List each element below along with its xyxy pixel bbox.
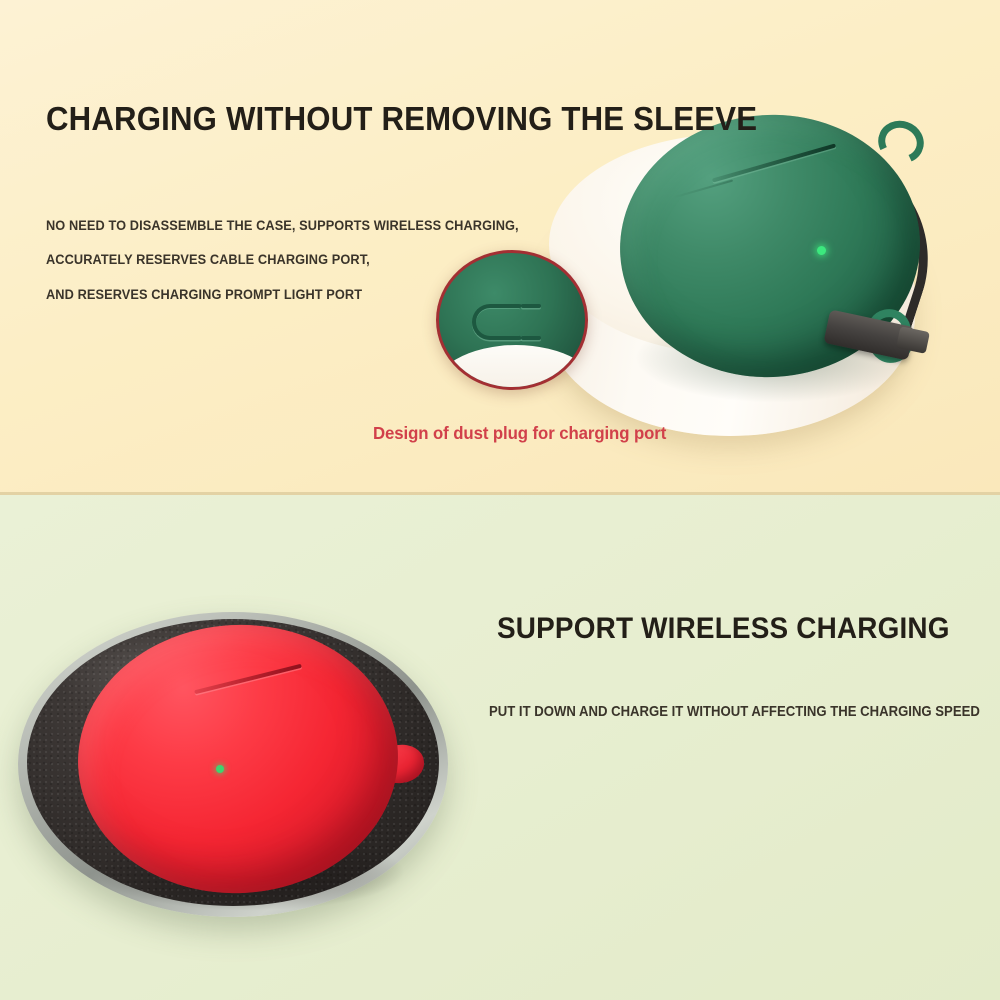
magnifier-white-arc — [436, 345, 588, 390]
body-text-line-2: ACCURATELY RESERVES CABLE CHARGING PORT, — [46, 252, 370, 268]
earbuds-case-green — [610, 113, 940, 403]
earbuds-case-red — [78, 625, 458, 915]
dust-plug-tab-bottom — [521, 336, 541, 340]
section-title-wireless-charging: SUPPORT WIRELESS CHARGING — [497, 612, 950, 646]
magnifier-callout — [436, 250, 588, 390]
infographic-page: CHARGING WITHOUT REMOVING THE SLEEVE NO … — [0, 0, 1000, 1000]
body-text-line-1: NO NEED TO DISASSEMBLE THE CASE, SUPPORT… — [46, 218, 519, 234]
body-text-line-3: AND RESERVES CHARGING PROMPT LIGHT PORT — [46, 287, 362, 303]
dust-plug-tab-top — [521, 304, 541, 308]
charging-led-indicator — [216, 765, 224, 773]
dust-plug-icon — [472, 304, 524, 340]
charging-led-indicator — [817, 246, 826, 255]
page-title: CHARGING WITHOUT REMOVING THE SLEEVE — [46, 101, 757, 139]
section-subtext: PUT IT DOWN AND CHARGE IT WITHOUT AFFECT… — [489, 704, 980, 720]
top-feature-panel: CHARGING WITHOUT REMOVING THE SLEEVE NO … — [0, 0, 1000, 492]
dust-plug-caption: Design of dust plug for charging port — [373, 423, 666, 444]
